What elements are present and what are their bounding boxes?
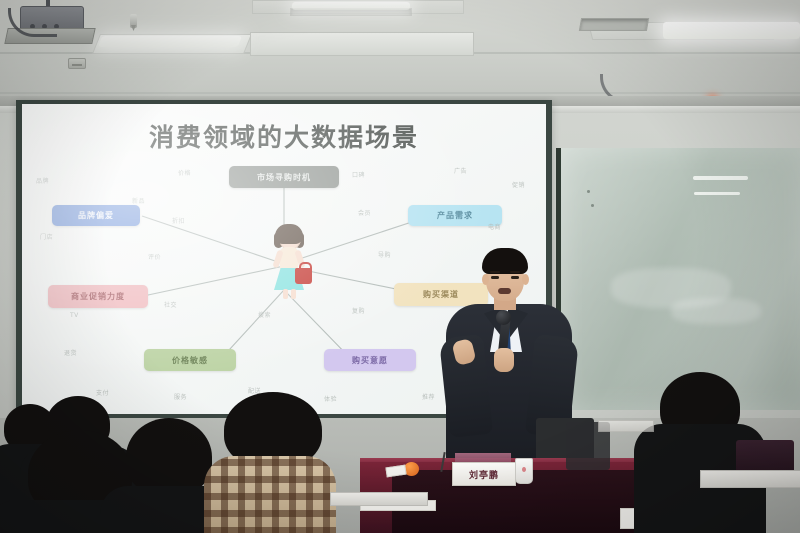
slide-keyword: 广告 bbox=[454, 166, 467, 175]
smoke-detector-grill bbox=[72, 64, 82, 66]
chalk-mark bbox=[694, 192, 740, 195]
slide-keyword: 电商 bbox=[488, 222, 501, 231]
woman-leg bbox=[291, 289, 296, 299]
mindmap-node-promotion-strength: 商业促销力度 bbox=[48, 285, 148, 308]
presenter-ear bbox=[482, 274, 489, 285]
woman-hair bbox=[275, 224, 303, 244]
presenter-mouth bbox=[498, 288, 511, 294]
ceiling-light-icon bbox=[292, 2, 410, 10]
slide-keyword: TV bbox=[70, 312, 79, 319]
slide-keyword: 品牌 bbox=[36, 176, 49, 185]
slide-keyword: 服务 bbox=[174, 392, 187, 401]
presenter-hair bbox=[482, 248, 528, 274]
presenter-mic-hand bbox=[494, 348, 514, 372]
slide-keyword: 搜索 bbox=[258, 310, 271, 319]
presenter-brow bbox=[490, 271, 500, 273]
slide-keyword: 体验 bbox=[324, 394, 337, 403]
projector-icon bbox=[6, 0, 96, 50]
handbag-icon bbox=[295, 268, 312, 284]
slide-keyword: 支付 bbox=[96, 388, 109, 397]
shopping-woman-icon bbox=[265, 226, 313, 300]
presenter-eye bbox=[511, 276, 519, 279]
lecture-photo: 消费领域的大数据场景 市场寻购时机 品牌偏爱 产品需求 商业促销力度 购买渠道 … bbox=[0, 0, 800, 533]
mindmap-node-price-sensitivity: 价格敏感 bbox=[144, 349, 236, 371]
slide-keyword: 价格 bbox=[178, 168, 191, 177]
slide-keyword: 门店 bbox=[40, 232, 53, 241]
smoke-detector-icon bbox=[68, 58, 86, 69]
mindmap-root-node: 市场寻购时机 bbox=[229, 166, 339, 188]
chalk-smudge bbox=[671, 298, 761, 324]
desk-ledge bbox=[700, 470, 800, 488]
slide-keyword: 新品 bbox=[132, 196, 145, 205]
chalkboard bbox=[556, 148, 800, 410]
ceiling-panel bbox=[250, 32, 474, 56]
attendee-plaid-jacket bbox=[204, 456, 336, 533]
presenter-brow bbox=[510, 271, 520, 273]
board-mark bbox=[591, 204, 594, 207]
attendee-head bbox=[126, 418, 212, 496]
slide-keyword: 口碑 bbox=[352, 170, 365, 179]
slide-keyword: 社交 bbox=[164, 300, 177, 309]
ceiling-light-icon bbox=[98, 36, 242, 47]
ceiling-light-icon bbox=[663, 22, 800, 39]
paper-cup bbox=[515, 458, 533, 484]
board-mark bbox=[587, 190, 590, 193]
slide-keyword: 导购 bbox=[378, 250, 391, 259]
desk-ledge bbox=[330, 492, 428, 506]
slide-keyword: 退货 bbox=[64, 348, 77, 357]
slide-keyword: 评价 bbox=[148, 252, 161, 261]
slide-keyword: 复购 bbox=[352, 306, 365, 315]
woman-leg bbox=[283, 289, 288, 299]
desk-ledge bbox=[598, 420, 654, 432]
slide-keyword: 促销 bbox=[512, 180, 525, 189]
slide-keyword: 折扣 bbox=[172, 216, 185, 225]
mindmap-node-brand-preference: 品牌偏爱 bbox=[52, 205, 140, 226]
presenter-eye bbox=[491, 276, 499, 279]
slide-keyword: 推荐 bbox=[422, 392, 435, 401]
mindmap-node-purchase-intent: 购买意愿 bbox=[324, 349, 416, 371]
chalk-mark bbox=[693, 176, 748, 180]
ceiling-vent-icon bbox=[579, 18, 649, 31]
sprinkler-icon bbox=[130, 14, 137, 28]
nameplate: 刘亭鹏 bbox=[452, 462, 516, 486]
microphone-head-icon bbox=[496, 310, 511, 325]
presenter-ear bbox=[522, 274, 529, 285]
slide-keyword: 会员 bbox=[358, 208, 371, 217]
